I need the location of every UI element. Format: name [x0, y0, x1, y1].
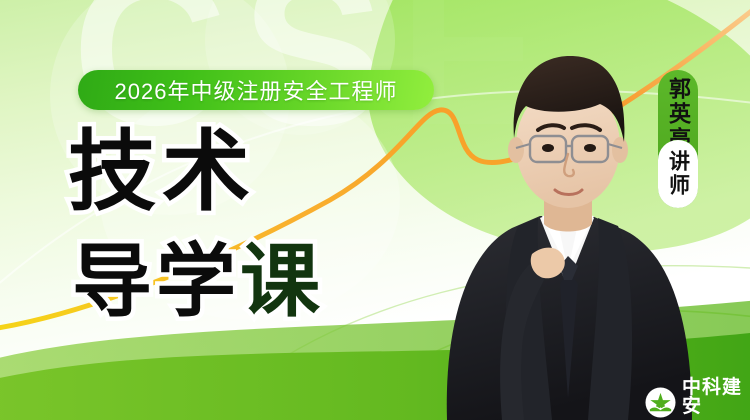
instructor-role-badge: 讲师	[658, 140, 698, 208]
star-mountain-icon	[645, 387, 676, 418]
title-line-2-part-2: 课	[240, 237, 324, 326]
title-line-1: 技术	[68, 128, 324, 216]
title-line-2-part-1: 导学	[72, 237, 240, 326]
course-banner: CSE	[0, 0, 750, 420]
brand-logo-text: 中科建安 www.zkjan.com	[682, 378, 750, 420]
brand-name: 中科建安	[682, 378, 750, 416]
brand-logo[interactable]: 中科建安 www.zkjan.com	[645, 378, 750, 420]
page-title: 技术 导学课	[68, 128, 324, 322]
course-subtitle-text: 2026年中级注册安全工程师	[115, 74, 398, 106]
instructor-role: 讲师	[668, 150, 689, 198]
course-subtitle-badge: 2026年中级注册安全工程师	[78, 70, 434, 110]
title-line-2: 导学课	[72, 242, 324, 322]
